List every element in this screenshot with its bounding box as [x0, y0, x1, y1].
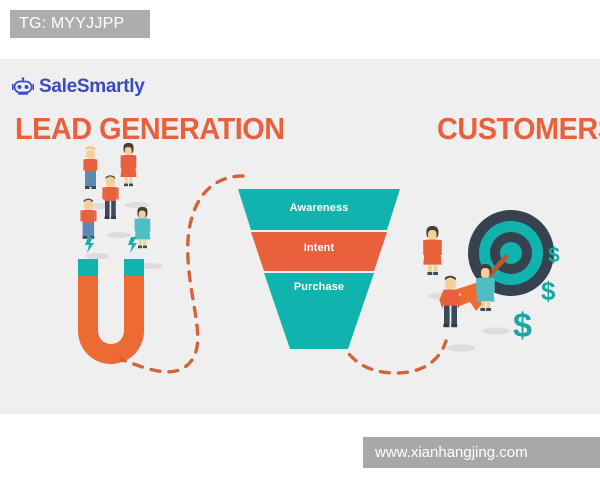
- telegram-handle-label: TG: MYYJJPP: [19, 15, 124, 33]
- illustration-scene: $ $ $: [0, 59, 600, 414]
- website-watermark-label: www.xianhangjing.com: [375, 444, 528, 461]
- dollar-sign-icon: $: [548, 244, 560, 267]
- dollar-sign-icon: $: [513, 307, 532, 345]
- website-watermark-banner: www.xianhangjing.com: [363, 437, 600, 468]
- funnel-label-awareness: Awareness: [238, 202, 400, 214]
- people-group-left: [81, 143, 164, 269]
- infographic-poster: SaleSmartly LEAD GENERATION CUSTOMERS: [0, 59, 600, 414]
- funnel-label-intent: Intent: [250, 242, 388, 254]
- telegram-handle-banner: TG: MYYJJPP: [10, 10, 150, 38]
- person-figure: [121, 143, 150, 208]
- bullseye-target-icon: [451, 210, 554, 311]
- dollar-sign-icon: $: [541, 276, 556, 306]
- funnel-label-purchase: Purchase: [262, 281, 376, 293]
